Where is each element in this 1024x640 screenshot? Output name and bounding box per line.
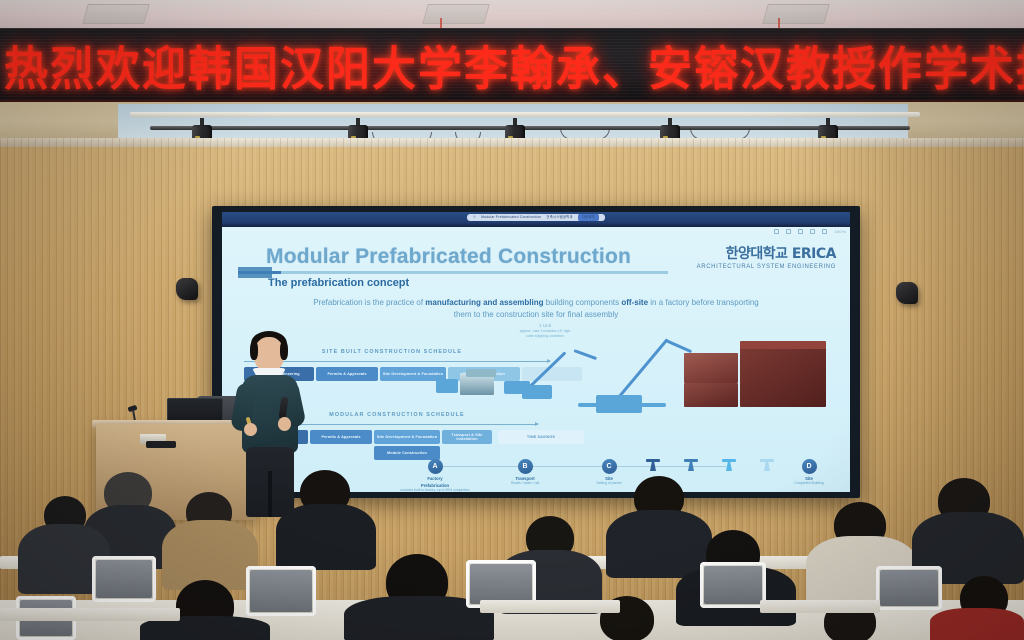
pen-icon[interactable] (822, 229, 827, 234)
chair-backrest (470, 564, 532, 604)
wall-speaker-left (176, 278, 198, 300)
lighting-truss-back (150, 126, 910, 130)
chair-backrest (250, 570, 312, 612)
crane-boom (573, 349, 597, 360)
crane-base (522, 385, 552, 399)
presenter-hand-left (244, 423, 257, 436)
body-bold-1: manufacturing and assembling (425, 298, 543, 307)
banner-text: 热烈欢迎韩国汉阳大学李翰承、安镕汉教授作学术报告 (0, 31, 1024, 99)
truck-icon (436, 379, 458, 393)
audience-chair (876, 566, 942, 610)
unit-caption-line3: cube shipping container (480, 334, 610, 340)
schedule-bar: Permits & Approvals (310, 430, 372, 444)
desk-row-near (480, 600, 620, 613)
step-a-desc: modules built in-factory, up to 95% comp… (400, 488, 470, 492)
zoom-out-icon[interactable] (774, 229, 779, 234)
schedule-bar: Transport & Site Installation (442, 430, 492, 444)
panel-joint-icon (684, 459, 698, 471)
step-d-desc: Completed Building (774, 481, 844, 485)
body-part-1: Prefabrication is the practice of (313, 298, 425, 307)
building-roof (740, 341, 826, 349)
viewer-meta: 건축시스템공학과 (546, 214, 573, 221)
logo-korean-text: 한양대학교 ERICA (697, 243, 836, 263)
audience-chair (700, 562, 766, 608)
slide-body-text: Prefabrication is the practice of manufa… (242, 297, 830, 321)
desk-row-near (0, 608, 180, 621)
module-box (684, 353, 738, 383)
ceiling-vent (422, 4, 490, 24)
university-logo: 한양대학교 ERICA ARCHITECTURAL SYSTEM ENGINEE… (697, 243, 836, 270)
chair-backrest (96, 560, 152, 598)
step-b-badge: B (518, 459, 533, 474)
attendee-body (606, 510, 712, 578)
wall-speaker-right (896, 282, 918, 304)
step-d: D Site Completed Building (774, 459, 844, 485)
presenter (230, 325, 306, 517)
presenter-hair-side (280, 341, 288, 360)
lecture-hall-photo: 热烈欢迎韩国汉阳大学李翰承、安镕汉教授作学术报告 (0, 0, 1024, 640)
panel-joint-icon (646, 459, 660, 471)
body-part-4: them to the construction site for final … (454, 310, 619, 319)
step-a: A Factory Prefabrication modules built i… (400, 459, 470, 492)
presenter-hand-right (278, 417, 291, 431)
crane-outrigger (578, 403, 666, 407)
fullscreen-icon[interactable] (810, 229, 815, 234)
podium-equipment (146, 441, 176, 448)
panel-joint-icon (722, 459, 736, 471)
audience-chair (246, 566, 316, 616)
attendee-body (930, 608, 1024, 640)
panel-joint-icon (760, 459, 774, 471)
step-c-badge: C (602, 459, 617, 474)
viewer-title: Modular Prefabricated Construction (481, 214, 541, 221)
logo-department-text: ARCHITECTURAL SYSTEM ENGINEERING (697, 264, 836, 270)
body-part-3: in a factory before transporting (648, 298, 759, 307)
display-screen: ☉ Modular Prefabricated Construction 건축시… (222, 212, 850, 492)
crane-boom (615, 338, 669, 401)
viewer-globe-icon: ☉ (473, 214, 476, 221)
presenter-hair-side (250, 341, 258, 360)
zoom-in-icon[interactable] (786, 229, 791, 234)
fit-page-icon[interactable] (798, 229, 803, 234)
presenter-leg-gap (268, 471, 272, 517)
viewer-download-button[interactable]: 다운로드 (578, 214, 599, 221)
step-c: C Site Setting of panels (574, 459, 644, 485)
audience-chair (92, 556, 156, 602)
chair-backrest (880, 570, 938, 606)
crane-boom (665, 339, 692, 353)
body-part-2: building components (544, 298, 622, 307)
slide-title: Modular Prefabricated Construction (266, 245, 631, 269)
step-a-title: Factory (400, 476, 470, 481)
step-a-badge: A (428, 459, 443, 474)
ceiling-vent (82, 4, 150, 24)
schedule-bar: Permits & Approvals (316, 367, 378, 381)
schedule-bar: Site Development & Foundation (374, 430, 440, 444)
module-stack-icon (466, 369, 496, 377)
led-welcome-banner: 热烈欢迎韩国汉阳大学李翰承、安镕汉教授作学术报告 (0, 28, 1024, 102)
step-c-desc: Setting of panels (574, 481, 644, 485)
slide-subtitle: The prefabrication concept (268, 277, 409, 289)
schedule-bar-second-row: Module Construction (374, 446, 440, 460)
step-d-badge: D (802, 459, 817, 474)
desk-row-near (760, 600, 880, 613)
attendee-body (276, 504, 376, 570)
module-box (684, 383, 738, 407)
presentation-display: ☉ Modular Prefabricated Construction 건축시… (212, 206, 860, 498)
body-bold-2: off-site (621, 298, 648, 307)
step-b-desc: Roads / water / rail (490, 481, 560, 485)
slide-canvas: 100% Modular Prefabricated Construction … (222, 227, 850, 492)
slide-tool-row[interactable]: 100% (774, 229, 846, 234)
chair-backrest (704, 566, 762, 604)
zoom-level-label: 100% (834, 229, 846, 234)
step-b: B Transport Roads / water / rail (490, 459, 560, 485)
schedule-bar-time-savings: TIME SAVINGS (498, 430, 584, 444)
ceiling-vent (762, 4, 830, 24)
document-viewer-toolbar[interactable]: ☉ Modular Prefabricated Construction 건축시… (222, 212, 850, 223)
unit-caption: 1 Unit approx. max 3 modules 15' high cu… (480, 323, 610, 340)
ceiling-rail (130, 112, 920, 117)
completed-building (740, 345, 826, 407)
schedule-bar-empty (522, 367, 582, 381)
title-underline (238, 271, 668, 274)
